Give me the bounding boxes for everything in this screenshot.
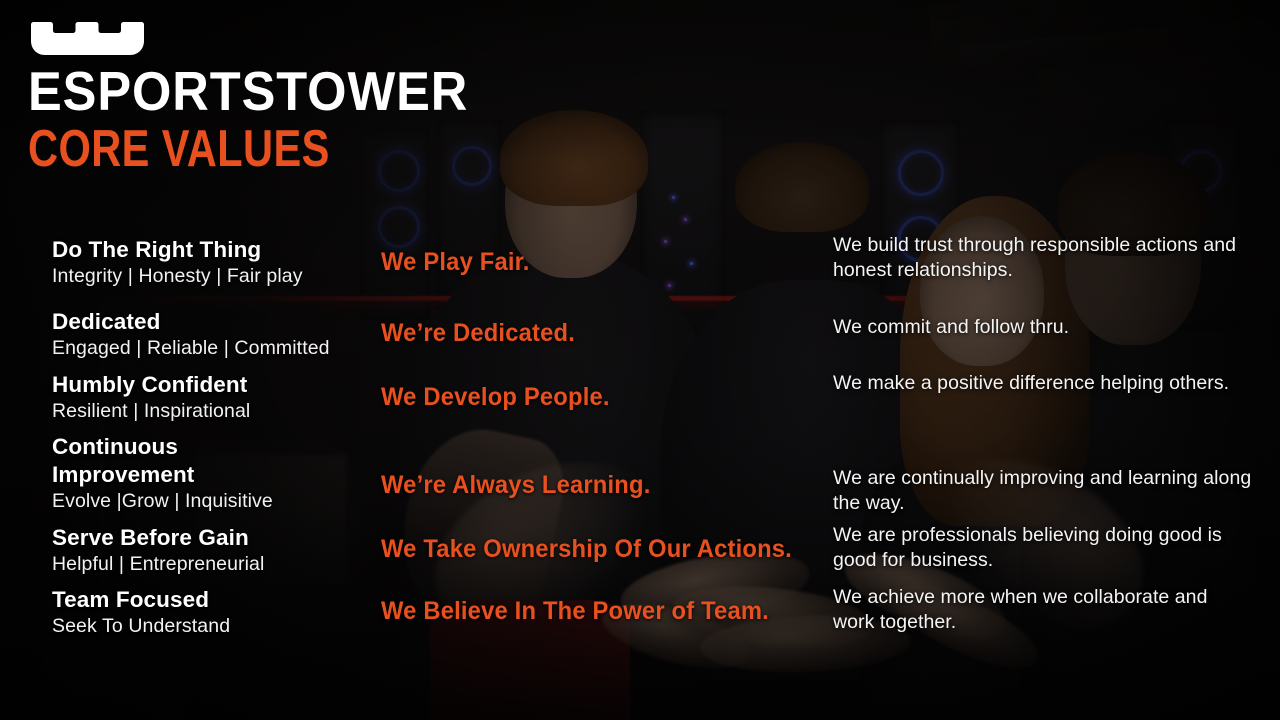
value-slogan-cell: We Play Fair. — [381, 248, 821, 276]
value-name-cell: Team Focused Seek To Understand — [52, 586, 382, 639]
value-slogan: We Play Fair. — [381, 248, 799, 276]
value-keywords: Integrity | Honesty | Fair play — [52, 264, 382, 289]
value-name-cell: Dedicated Engaged | Reliable | Committed — [52, 308, 382, 361]
brand-subtitle: CORE VALUES — [28, 122, 411, 176]
value-keywords: Engaged | Reliable | Committed — [52, 336, 382, 361]
value-slogan: We Believe In The Power of Team. — [381, 597, 799, 625]
value-keywords: Evolve |Grow | Inquisitive — [52, 489, 382, 514]
value-title: Continuous Improvement — [52, 433, 232, 489]
value-slogan-cell: We’re Always Learning. — [381, 471, 821, 499]
value-name-cell: Do The Right Thing Integrity | Honesty |… — [52, 236, 382, 289]
brand-logo: ESPORTSTOWER CORE VALUES — [28, 22, 507, 176]
brand-name: ESPORTSTOWER — [28, 62, 468, 120]
value-description-cell: We make a positive difference helping ot… — [833, 371, 1253, 396]
value-name-cell: Humbly Confident Resilient | Inspiration… — [52, 371, 382, 424]
value-description-cell: We are continually improving and learnin… — [833, 466, 1253, 516]
value-slogan: We Develop People. — [381, 383, 799, 411]
value-description-cell: We are professionals believing doing goo… — [833, 523, 1253, 573]
value-slogan: We Take Ownership Of Our Actions. — [381, 535, 799, 563]
value-slogan-cell: We Develop People. — [381, 383, 821, 411]
value-description: We commit and follow thru. — [833, 315, 1253, 340]
value-keywords: Helpful | Entrepreneurial — [52, 552, 382, 577]
slide-content: ESPORTSTOWER CORE VALUES Do The Right Th… — [0, 0, 1280, 720]
value-title: Dedicated — [52, 308, 382, 336]
crown-icon — [28, 22, 148, 56]
value-description: We are continually improving and learnin… — [833, 466, 1253, 516]
core-values-slide: ESPORTSTOWER CORE VALUES Do The Right Th… — [0, 0, 1280, 720]
value-description: We make a positive difference helping ot… — [833, 371, 1253, 396]
value-slogan: We’re Dedicated. — [381, 319, 799, 347]
value-description: We build trust through responsible actio… — [833, 233, 1253, 283]
value-name-cell: Serve Before Gain Helpful | Entrepreneur… — [52, 524, 382, 577]
value-description-cell: We build trust through responsible actio… — [833, 233, 1253, 283]
value-slogan-cell: We Take Ownership Of Our Actions. — [381, 535, 821, 563]
value-slogan-cell: We’re Dedicated. — [381, 319, 821, 347]
value-keywords: Seek To Understand — [52, 614, 382, 639]
value-title: Serve Before Gain — [52, 524, 382, 552]
value-title: Team Focused — [52, 586, 382, 614]
value-description-cell: We achieve more when we collaborate and … — [833, 585, 1253, 635]
value-description-cell: We commit and follow thru. — [833, 315, 1253, 340]
value-slogan: We’re Always Learning. — [381, 471, 799, 499]
value-description: We are professionals believing doing goo… — [833, 523, 1253, 573]
value-description: We achieve more when we collaborate and … — [833, 585, 1253, 635]
value-slogan-cell: We Believe In The Power of Team. — [381, 597, 821, 625]
value-title: Do The Right Thing — [52, 236, 382, 264]
value-name-cell: Continuous Improvement Evolve |Grow | In… — [52, 433, 382, 514]
value-keywords: Resilient | Inspirational — [52, 399, 382, 424]
value-title: Humbly Confident — [52, 371, 382, 399]
